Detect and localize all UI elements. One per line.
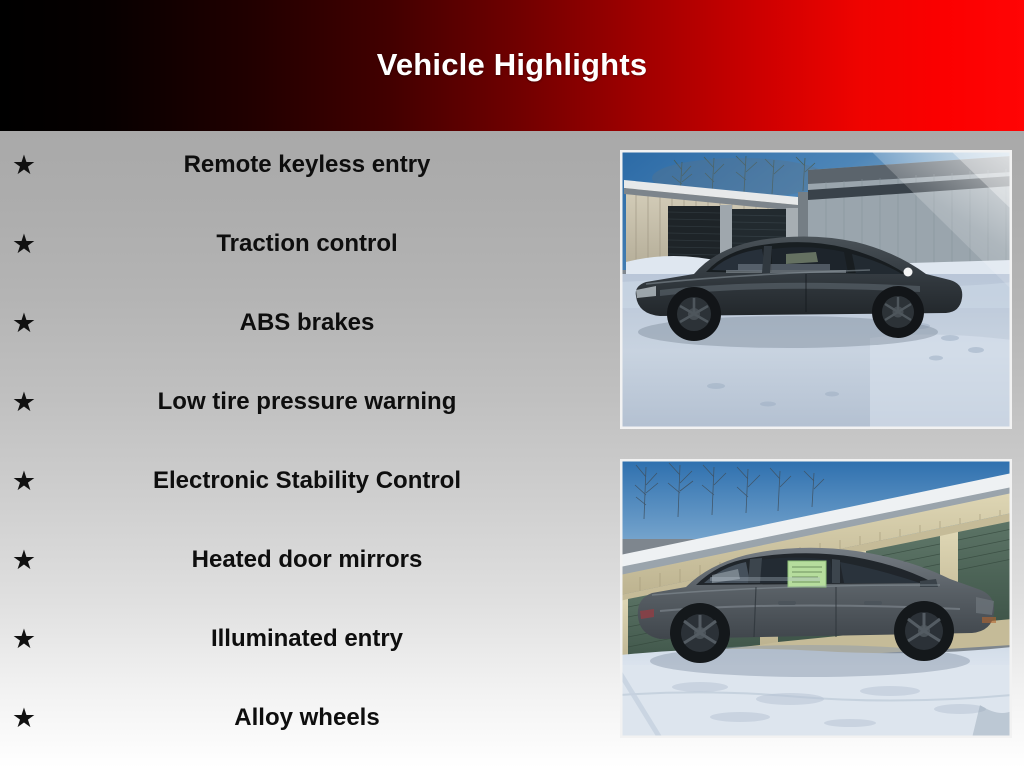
feature-label: Alloy wheels — [40, 698, 574, 738]
vehicle-photo-passenger-side-image — [620, 459, 1012, 738]
feature-label: ABS brakes — [40, 303, 574, 343]
page-title: Vehicle Highlights — [0, 45, 1024, 85]
star-icon: ★ — [11, 540, 37, 580]
vehicle-highlights-slide: Vehicle Highlights ★ Remote keyless entr… — [0, 0, 1024, 768]
star-icon: ★ — [11, 461, 37, 501]
list-item[interactable]: ★ Traction control — [0, 224, 614, 264]
vehicle-photo-driver-side-image — [620, 150, 1012, 429]
vehicle-photo-driver-side[interactable] — [620, 150, 1012, 429]
list-item[interactable]: ★ Remote keyless entry — [0, 145, 614, 185]
star-icon: ★ — [11, 382, 37, 422]
star-icon: ★ — [11, 224, 37, 264]
list-item[interactable]: ★ Illuminated entry — [0, 619, 614, 659]
list-item[interactable]: ★ Alloy wheels — [0, 698, 614, 738]
feature-label: Traction control — [40, 224, 574, 264]
feature-label: Remote keyless entry — [40, 145, 574, 185]
feature-list: ★ Remote keyless entry ★ Traction contro… — [0, 131, 614, 768]
list-item[interactable]: ★ ABS brakes — [0, 303, 614, 343]
feature-label: Low tire pressure warning — [40, 382, 574, 422]
list-item[interactable]: ★ Low tire pressure warning — [0, 382, 614, 422]
list-item[interactable]: ★ Heated door mirrors — [0, 540, 614, 580]
vehicle-photo-passenger-side[interactable] — [620, 459, 1012, 738]
star-icon: ★ — [11, 619, 37, 659]
feature-label: Illuminated entry — [40, 619, 574, 659]
feature-label: Electronic Stability Control — [40, 461, 574, 501]
feature-label: Heated door mirrors — [40, 540, 574, 580]
star-icon: ★ — [11, 145, 37, 185]
header-banner: Vehicle Highlights — [0, 0, 1024, 131]
star-icon: ★ — [11, 698, 37, 738]
list-item[interactable]: ★ Electronic Stability Control — [0, 461, 614, 501]
star-icon: ★ — [11, 303, 37, 343]
